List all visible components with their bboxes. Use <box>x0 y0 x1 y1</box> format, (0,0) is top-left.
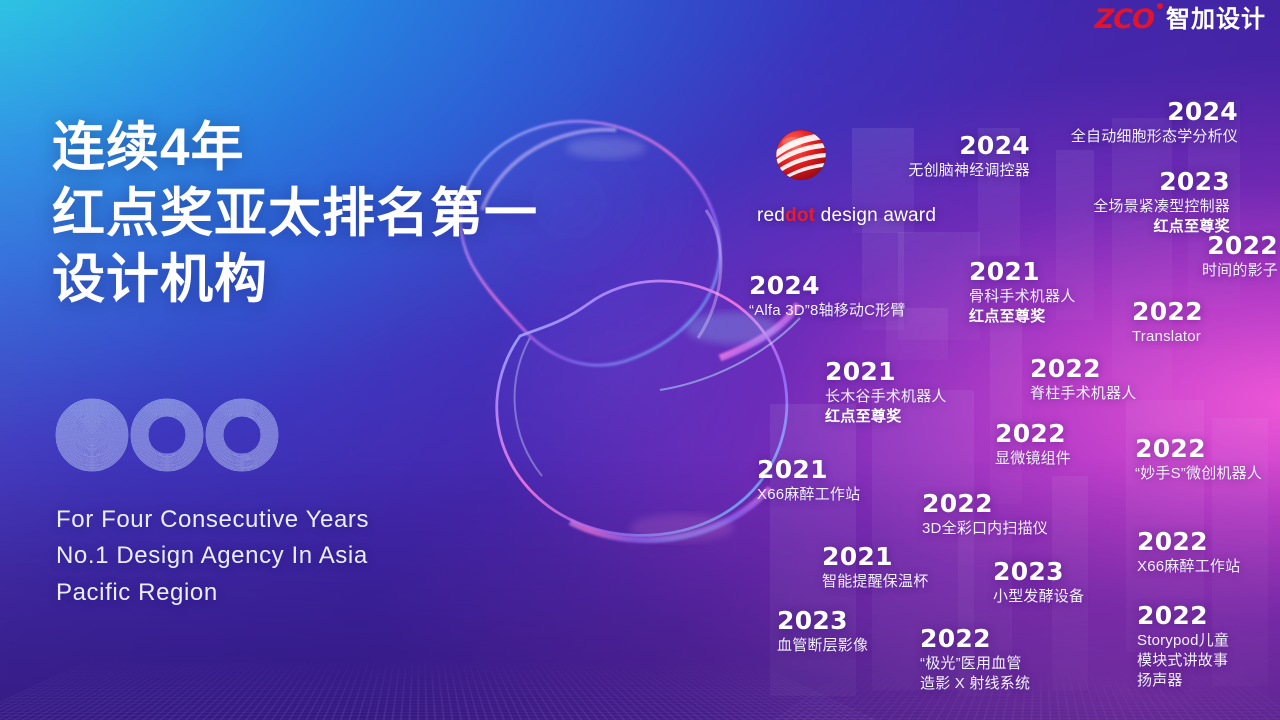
brand-logo[interactable]: ZCO 智加设计 <box>1095 6 1266 33</box>
award-item: 2024 “Alfa 3D”8轴移动C形臂 <box>749 272 959 321</box>
award-item: 2021 X66麻醉工作站 <box>757 456 917 505</box>
award-item: 2021 智能提醒保温杯 <box>822 543 982 592</box>
award-name: 血管断层影像 <box>777 636 927 656</box>
reddot-award-logo: reddot design award <box>757 124 936 227</box>
award-year: 2023 <box>777 607 927 634</box>
award-name: 脊柱手术机器人 <box>1030 384 1210 404</box>
award-item: 2022 X66麻醉工作站 <box>1137 528 1280 577</box>
registered-dot-icon <box>1157 3 1163 9</box>
award-name: 长木谷手术机器人 <box>825 387 1015 407</box>
award-item: 2021 骨科手术机器人 红点至尊奖 <box>969 258 1139 327</box>
zco-wordmark: ZCO <box>1095 6 1154 33</box>
award-year: 2022 <box>1137 528 1280 555</box>
award-name: “极光”医用血管 造影 X 射线系统 <box>920 654 1100 694</box>
award-year: 2021 <box>969 258 1139 285</box>
award-name: 全场景紧凑型控制器 <box>968 197 1230 217</box>
reddot-sphere-icon <box>770 124 832 186</box>
award-year: 2022 <box>1135 435 1280 462</box>
award-item: 2021 长木谷手术机器人 红点至尊奖 <box>825 358 1015 427</box>
reddot-word-design-award: design award <box>815 205 936 226</box>
award-list: 2024 无创脑神经调控器 2024 全自动细胞形态学分析仪 2023 全场景紧… <box>0 0 1280 720</box>
reddot-word-dot: dot <box>785 205 815 226</box>
award-honor: 红点至尊奖 <box>969 307 1139 327</box>
award-item: 2023 小型发酵设备 <box>993 558 1143 607</box>
award-item: 2022 “极光”医用血管 造影 X 射线系统 <box>920 625 1100 694</box>
reddot-word-red: red <box>757 205 785 226</box>
award-year: 2022 <box>1030 355 1210 382</box>
award-year: 2022 <box>1090 232 1278 259</box>
award-year: 2022 <box>920 625 1100 652</box>
award-year: 2022 <box>1132 298 1272 325</box>
award-name: 骨科手术机器人 <box>969 287 1139 307</box>
award-item: 2022 Storypod儿童 模块式讲故事 扬声器 <box>1137 602 1280 690</box>
award-year: 2023 <box>993 558 1143 585</box>
award-name: 智能提醒保温杯 <box>822 572 982 592</box>
award-item: 2022 “妙手S”微创机器人 <box>1135 435 1280 484</box>
award-year: 2022 <box>1137 602 1280 629</box>
award-item: 2022 Translator <box>1132 298 1272 347</box>
award-item: 2022 显微镜组件 <box>995 420 1145 469</box>
slide-canvas: ZCO 智加设计 连续4年 红点奖亚太排名第一 设计机构 For Four Co… <box>0 0 1280 720</box>
award-name: 显微镜组件 <box>995 449 1145 469</box>
reddot-award-wordmark: reddot design award <box>757 205 936 227</box>
award-name: Storypod儿童 模块式讲故事 扬声器 <box>1137 631 1280 690</box>
award-year: 2021 <box>825 358 1015 385</box>
award-name: X66麻醉工作站 <box>757 485 917 505</box>
award-name: 全自动细胞形态学分析仪 <box>1000 127 1238 147</box>
award-year: 2021 <box>757 456 917 483</box>
award-year: 2024 <box>749 272 959 299</box>
award-name: 3D全彩口内扫描仪 <box>922 519 1092 539</box>
award-name: Translator <box>1132 327 1272 347</box>
award-item: 2024 全自动细胞形态学分析仪 <box>1000 98 1238 147</box>
award-name: X66麻醉工作站 <box>1137 557 1280 577</box>
award-year: 2021 <box>822 543 982 570</box>
award-year: 2022 <box>922 490 1092 517</box>
award-year: 2024 <box>1000 98 1238 125</box>
award-item: 2022 脊柱手术机器人 <box>1030 355 1210 404</box>
award-name: “妙手S”微创机器人 <box>1135 464 1280 484</box>
award-item: 2023 全场景紧凑型控制器 红点至尊奖 <box>968 168 1230 237</box>
award-name: “Alfa 3D”8轴移动C形臂 <box>749 301 959 321</box>
award-name: 小型发酵设备 <box>993 587 1143 607</box>
award-year: 2022 <box>995 420 1145 447</box>
brand-name-cn: 智加设计 <box>1160 8 1266 32</box>
award-item: 2022 3D全彩口内扫描仪 <box>922 490 1092 539</box>
award-honor: 红点至尊奖 <box>825 407 1015 427</box>
award-item: 2023 血管断层影像 <box>777 607 927 656</box>
award-year: 2023 <box>968 168 1230 195</box>
